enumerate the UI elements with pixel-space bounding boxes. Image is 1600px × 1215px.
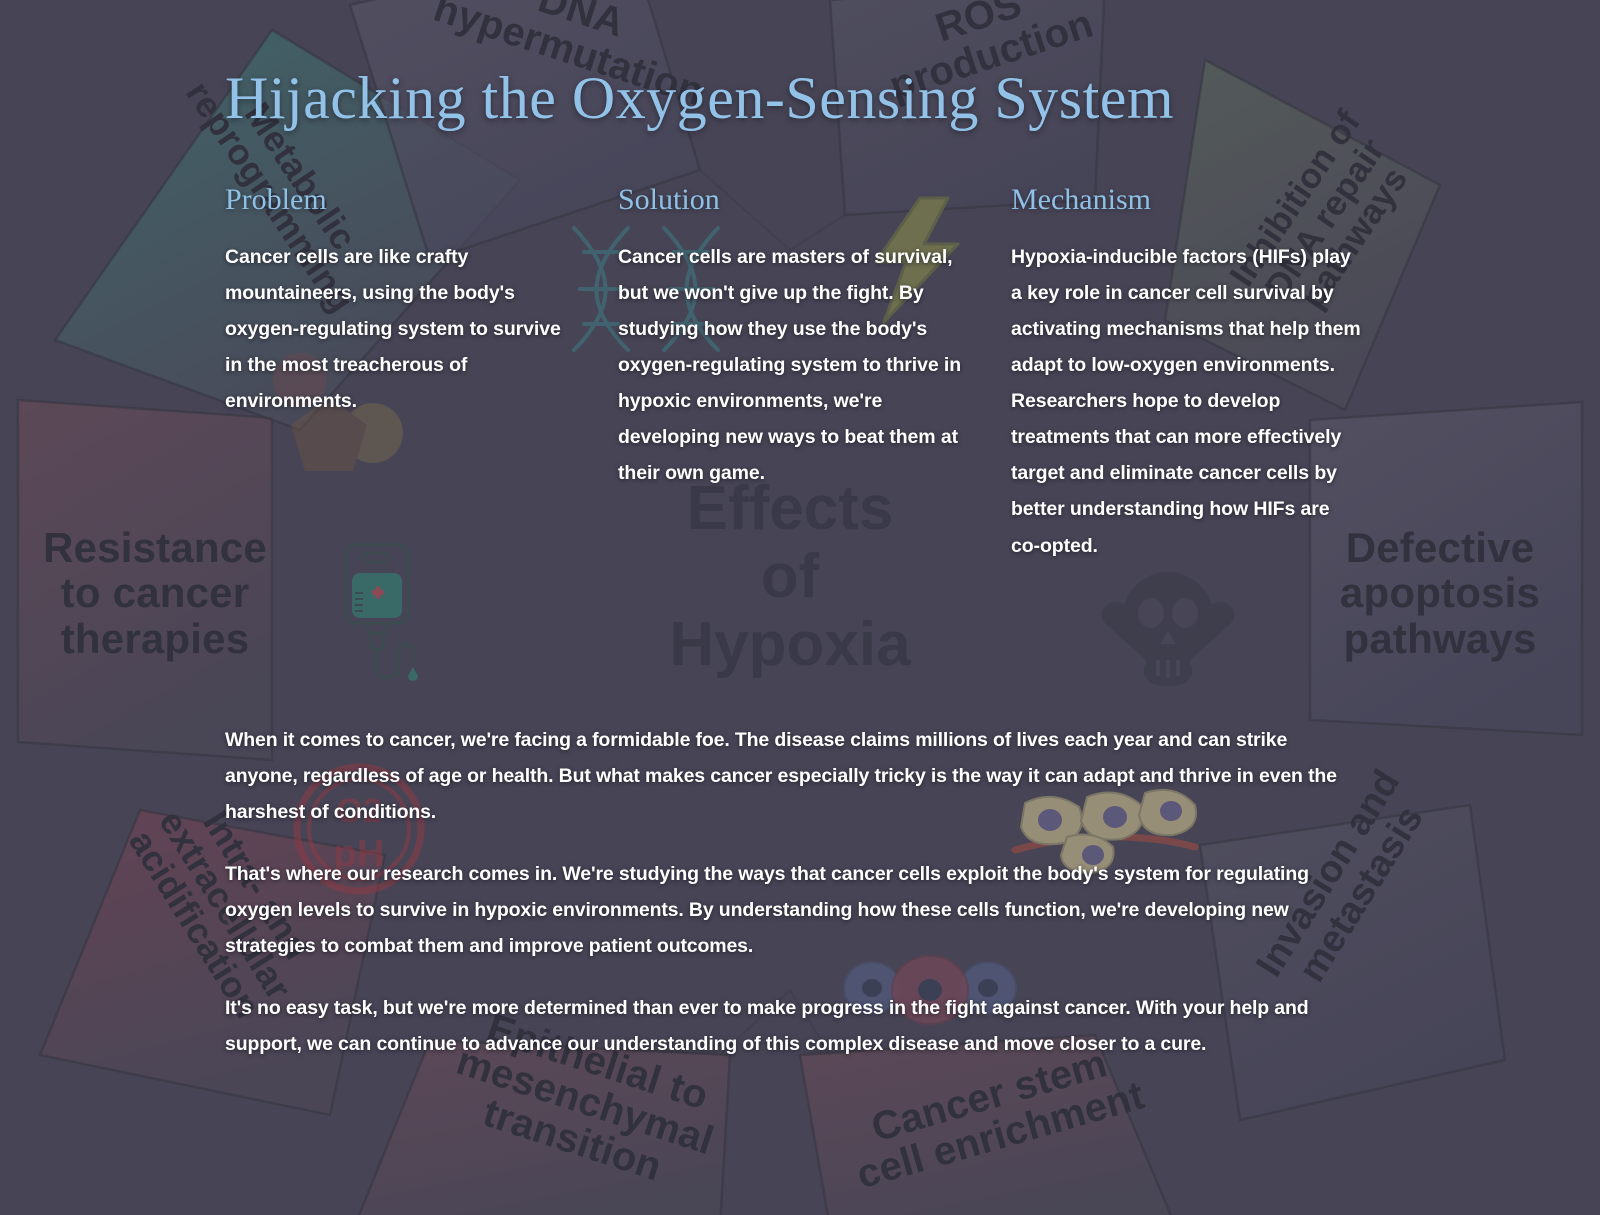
poster-canvas: Effects of Hypoxia Metabolic reprogrammi… [0,0,1600,1215]
column-body-problem: Cancer cells are like crafty mountaineer… [225,239,575,419]
page-title: Hijacking the Oxygen-Sensing System [225,64,1174,133]
body-paragraph-section: When it comes to cancer, we're facing a … [225,722,1365,1063]
column-heading-mechanism: Mechanism [1011,183,1361,217]
column-solution: Solution Cancer cells are masters of sur… [618,183,968,564]
column-heading-solution: Solution [618,183,968,217]
body-paragraph-3: It's no easy task, but we're more determ… [225,990,1365,1062]
body-paragraph-1: When it comes to cancer, we're facing a … [225,722,1365,830]
column-body-mechanism: Hypoxia-inducible factors (HIFs) play a … [1011,239,1361,564]
column-problem: Problem Cancer cells are like crafty mou… [225,183,575,564]
three-column-section: Problem Cancer cells are like crafty mou… [225,183,1370,564]
content-layer: Hijacking the Oxygen-Sensing System Prob… [0,0,1600,1215]
column-mechanism: Mechanism Hypoxia-inducible factors (HIF… [1011,183,1361,564]
body-paragraph-2: That's where our research comes in. We'r… [225,856,1365,964]
column-body-solution: Cancer cells are masters of survival, bu… [618,239,968,491]
column-heading-problem: Problem [225,183,575,217]
